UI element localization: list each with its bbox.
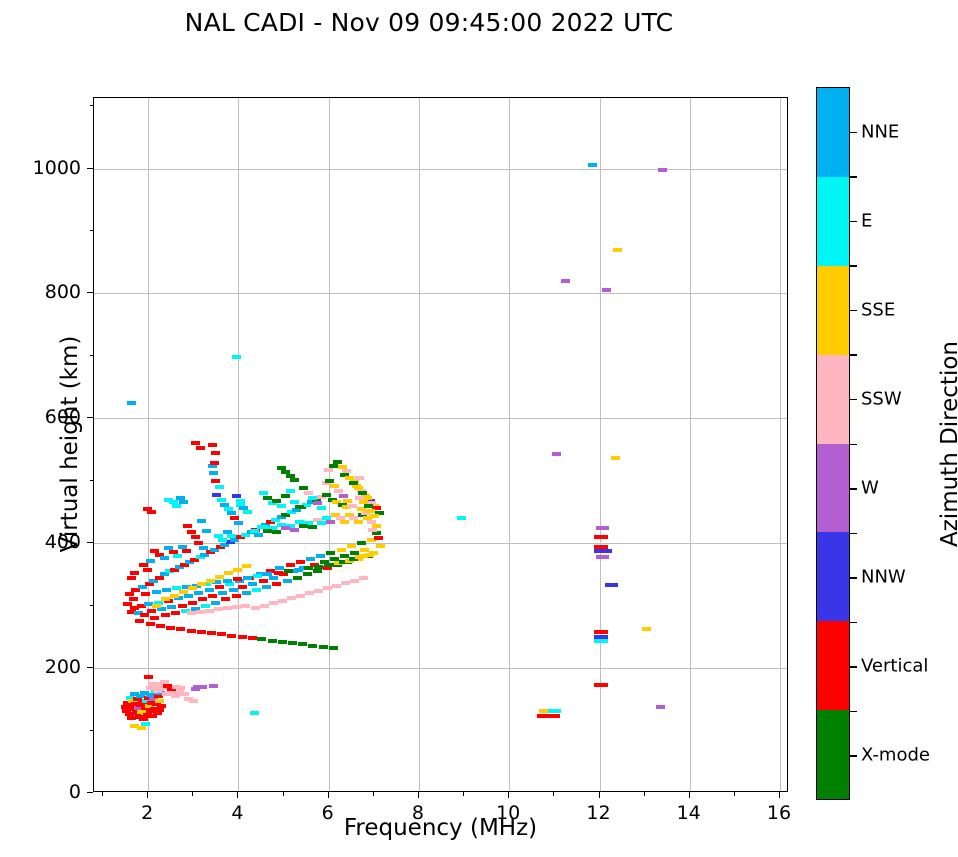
data-point (599, 639, 608, 643)
x-axis-tick (328, 792, 329, 798)
data-point (170, 594, 179, 598)
data-point (205, 588, 214, 592)
data-point (208, 594, 217, 598)
colorbar-boundary-tick (850, 176, 857, 178)
colorbar-tick (850, 755, 857, 757)
data-point (238, 585, 247, 589)
data-point (359, 576, 368, 580)
colorbar-boundary-tick (850, 711, 857, 713)
data-point (152, 604, 161, 608)
x-axis-minor-tick (192, 792, 193, 796)
data-point (242, 564, 251, 568)
x-axis-minor-tick (734, 792, 735, 796)
data-point (218, 591, 227, 595)
data-point (253, 574, 262, 578)
colorbar-segment (817, 710, 849, 799)
y-axis-tick-label: 200 (45, 656, 81, 678)
y-axis-minor-tick (90, 355, 94, 356)
data-point (281, 526, 290, 530)
y-axis-tick-label: 0 (69, 781, 81, 803)
colorbar-label-nne: NNE (861, 121, 899, 142)
data-point (299, 486, 308, 490)
data-point (191, 535, 200, 539)
data-point (229, 588, 238, 592)
data-point (224, 507, 233, 511)
data-point (369, 551, 378, 555)
data-point (293, 576, 302, 580)
data-point (316, 554, 325, 558)
data-point (278, 599, 287, 603)
data-point (183, 524, 192, 528)
data-point (147, 609, 156, 613)
data-point (234, 521, 243, 525)
data-point (220, 503, 229, 507)
data-point (215, 485, 224, 489)
data-point (227, 511, 236, 515)
data-point (337, 548, 346, 552)
colorbar-tick (850, 666, 857, 668)
data-point (600, 526, 609, 530)
data-point (176, 627, 185, 631)
data-point (212, 493, 221, 497)
data-point (224, 571, 233, 575)
data-point (215, 585, 224, 589)
data-point (232, 605, 241, 609)
data-point (340, 520, 349, 524)
x-axis-tick (779, 792, 780, 798)
data-point (123, 602, 132, 606)
colorbar-segment (817, 444, 849, 533)
data-point (259, 491, 268, 495)
data-point (160, 680, 169, 684)
x-axis-minor-tick (373, 792, 374, 796)
data-point (330, 484, 339, 488)
data-point (209, 471, 218, 475)
data-point (153, 689, 162, 693)
data-point (223, 579, 232, 583)
data-point (252, 588, 261, 592)
data-point (201, 604, 210, 608)
data-point (350, 551, 359, 555)
data-point (187, 611, 196, 615)
data-point (227, 534, 236, 538)
data-point (233, 577, 242, 581)
data-point (162, 588, 171, 592)
data-point (599, 630, 608, 634)
data-point (148, 682, 157, 686)
data-point (198, 597, 207, 601)
data-point (217, 632, 226, 636)
data-point (322, 493, 331, 497)
data-point (599, 683, 608, 687)
colorbar-segment (817, 621, 849, 710)
colorbar-tick (850, 399, 857, 401)
data-point (347, 544, 356, 548)
data-point (324, 468, 333, 472)
data-point (207, 631, 216, 635)
data-point (308, 525, 317, 529)
data-point (259, 579, 268, 583)
x-axis-title: Frequency (MHz) (93, 815, 788, 841)
data-point (146, 622, 155, 626)
data-point (167, 605, 176, 609)
figure-title: NAL CADI - Nov 09 09:45:00 2022 UTC (0, 8, 858, 37)
data-point (370, 514, 379, 518)
data-point (173, 554, 182, 558)
data-point (210, 461, 219, 465)
data-point (125, 592, 134, 596)
data-point (274, 571, 283, 575)
y-axis-minor-tick (90, 730, 94, 731)
data-point (296, 594, 305, 598)
data-point (176, 686, 185, 690)
data-point (166, 626, 175, 630)
data-point (304, 491, 313, 495)
data-point (243, 576, 252, 580)
data-point (368, 528, 377, 532)
data-point (326, 551, 335, 555)
data-point (561, 279, 570, 283)
data-point (349, 481, 358, 485)
data-point (272, 530, 281, 534)
data-point (357, 541, 366, 545)
data-point (178, 604, 187, 608)
data-point (277, 504, 286, 508)
data-point (206, 579, 215, 583)
data-point (141, 592, 150, 596)
data-point (161, 597, 170, 601)
y-axis-minor-tick (90, 230, 94, 231)
colorbar-segment (817, 177, 849, 266)
data-point (313, 569, 322, 573)
data-point (263, 572, 272, 576)
data-point (284, 569, 293, 573)
data-point (324, 563, 333, 567)
data-point (260, 604, 269, 608)
data-point (308, 496, 317, 500)
data-point (144, 675, 153, 679)
data-point (233, 568, 242, 572)
data-point (325, 479, 334, 483)
data-point (286, 563, 295, 567)
data-point (196, 610, 205, 614)
data-point (238, 635, 247, 639)
data-point (588, 163, 597, 167)
data-point (152, 590, 161, 594)
data-point (376, 544, 385, 548)
x-axis-minor-tick (463, 792, 464, 796)
data-point (161, 613, 170, 617)
data-point (286, 489, 295, 493)
data-point (179, 590, 188, 594)
data-point (218, 538, 227, 542)
data-point (243, 510, 252, 514)
data-point (290, 478, 299, 482)
y-axis-tick (87, 667, 93, 668)
data-point (191, 441, 200, 445)
data-point (135, 619, 144, 623)
data-point (211, 601, 220, 605)
data-point (326, 520, 335, 524)
colorbar-tick (850, 488, 857, 490)
data-point (140, 613, 149, 617)
data-point (613, 248, 622, 252)
data-point (155, 699, 164, 703)
data-point (196, 446, 205, 450)
data-point (232, 594, 241, 598)
colorbar-segment (817, 355, 849, 444)
x-axis-minor-tick (283, 792, 284, 796)
colorbar-tick (850, 310, 857, 312)
data-point (188, 586, 197, 590)
colorbar-label-w: W (861, 478, 879, 499)
data-point (139, 717, 148, 721)
data-point (609, 583, 618, 587)
data-point (345, 476, 354, 480)
data-point (189, 699, 198, 703)
data-point (137, 726, 146, 730)
x-axis-minor-tick (644, 792, 645, 796)
data-point (269, 601, 278, 605)
x-axis-tick (599, 792, 600, 798)
colorbar-title: Azimuth Direction (937, 284, 958, 604)
data-point (551, 714, 560, 718)
data-point (354, 520, 363, 524)
data-point (191, 687, 200, 691)
data-point (150, 616, 159, 620)
data-point (290, 500, 299, 504)
data-point (188, 601, 197, 605)
data-point (642, 627, 651, 631)
data-point (197, 582, 206, 586)
x-axis-tick (147, 792, 148, 798)
data-point (374, 536, 383, 540)
data-point (211, 479, 220, 483)
data-point (332, 584, 341, 588)
data-point (187, 530, 196, 534)
data-point (359, 500, 368, 504)
y-axis-tick-label: 1000 (33, 157, 81, 179)
data-point (232, 355, 241, 359)
plot-area (93, 97, 788, 792)
data-point (341, 581, 350, 585)
data-point (330, 557, 339, 561)
ionogram-figure: NAL CADI - Nov 09 09:45:00 2022 UTC 2468… (0, 0, 958, 857)
y-axis-minor-tick (90, 605, 94, 606)
data-point (366, 509, 375, 513)
y-axis-tick (87, 542, 93, 543)
colorbar-tick (850, 577, 857, 579)
data-point (157, 704, 166, 708)
x-axis-tick (237, 792, 238, 798)
data-point (262, 585, 271, 589)
data-point (354, 486, 363, 490)
data-point (552, 452, 561, 456)
data-point (194, 541, 203, 545)
colorbar-label-vertical: Vertical (861, 656, 928, 677)
data-point (230, 516, 239, 520)
data-point (656, 705, 665, 709)
data-point (141, 722, 150, 726)
colorbar (816, 87, 850, 800)
colorbar-segment (817, 532, 849, 621)
y-axis-tick (87, 168, 93, 169)
data-point (211, 451, 220, 455)
data-point (223, 606, 232, 610)
data-point (227, 634, 236, 638)
colorbar-boundary-tick (850, 444, 857, 446)
data-point (171, 611, 180, 615)
data-point (319, 645, 328, 649)
data-point (355, 496, 364, 500)
colorbar-boundary-tick (850, 533, 857, 535)
colorbar-segment (817, 88, 849, 177)
data-point (197, 519, 206, 523)
y-axis-minor-tick (90, 105, 94, 106)
data-point (599, 535, 608, 539)
colorbar-boundary-tick (850, 265, 857, 267)
data-point (306, 557, 315, 561)
data-point (139, 563, 148, 567)
data-point (197, 630, 206, 634)
data-point (242, 591, 251, 595)
data-point (251, 606, 260, 610)
data-point (298, 642, 307, 646)
data-point (313, 501, 322, 505)
x-axis-tick (689, 792, 690, 798)
x-axis-minor-tick (553, 792, 554, 796)
data-point (250, 711, 259, 715)
data-point (263, 529, 272, 533)
data-point (317, 521, 326, 525)
colorbar-boundary-tick (850, 354, 857, 356)
data-point (172, 504, 181, 508)
data-point (295, 505, 304, 509)
data-point (334, 489, 343, 493)
data-point (214, 607, 223, 611)
data-point (358, 491, 367, 495)
data-point (221, 597, 230, 601)
data-point (194, 591, 203, 595)
data-point (272, 499, 281, 503)
data-point (602, 288, 611, 292)
data-point (600, 555, 609, 559)
data-point (127, 576, 136, 580)
data-point (317, 506, 326, 510)
data-point (343, 499, 352, 503)
data-point (372, 531, 381, 535)
data-point (202, 529, 211, 533)
y-axis-tick (87, 417, 93, 418)
data-point (156, 624, 165, 628)
data-point (281, 494, 290, 498)
colorbar-tick (850, 132, 857, 134)
y-axis-title: Virtual height (km) (57, 294, 83, 594)
data-point (232, 494, 241, 498)
data-point (323, 586, 332, 590)
data-point (171, 694, 180, 698)
data-point (143, 568, 152, 572)
data-point (360, 548, 369, 552)
colorbar-label-sse: SSE (861, 299, 895, 320)
data-point (304, 566, 313, 570)
data-point (208, 443, 217, 447)
data-point (457, 516, 466, 520)
data-point (127, 401, 136, 405)
data-point (314, 589, 323, 593)
data-point (147, 510, 156, 514)
data-point (303, 572, 312, 576)
colorbar-label-e: E (861, 210, 872, 231)
data-point (217, 498, 226, 502)
data-point (129, 597, 138, 601)
data-point (348, 504, 357, 508)
data-point (215, 575, 224, 579)
y-axis-tick (87, 792, 93, 793)
data-point (209, 684, 218, 688)
data-point (355, 476, 364, 480)
data-point (182, 549, 191, 553)
colorbar-segment (817, 266, 849, 355)
data-point (248, 582, 257, 586)
data-point (272, 582, 281, 586)
data-point (254, 533, 263, 537)
data-point (248, 636, 257, 640)
data-point (552, 709, 561, 713)
data-point (299, 524, 308, 528)
y-axis-minor-tick (90, 480, 94, 481)
data-point (339, 494, 348, 498)
data-point (658, 168, 667, 172)
data-point (263, 496, 272, 500)
colorbar-label-nnw: NNW (861, 567, 906, 588)
x-axis-tick (508, 792, 509, 798)
data-point (184, 594, 193, 598)
data-point (268, 639, 277, 643)
data-point (146, 559, 155, 563)
data-point (257, 637, 266, 641)
data-point (308, 644, 317, 648)
x-axis-minor-tick (102, 792, 103, 796)
data-point (288, 641, 297, 645)
y-axis-tick (87, 292, 93, 293)
data-point (278, 640, 287, 644)
colorbar-boundary-tick (850, 622, 857, 624)
data-point (294, 568, 303, 572)
data-point (340, 554, 349, 558)
data-point (290, 528, 299, 532)
data-point (130, 571, 139, 575)
colorbar-label-x-mode: X-mode (861, 745, 930, 766)
data-layer (94, 98, 787, 791)
data-point (342, 469, 351, 473)
data-point (283, 579, 292, 583)
data-point (199, 546, 208, 550)
colorbar-tick (850, 221, 857, 223)
data-point (611, 456, 620, 460)
x-axis-tick (418, 792, 419, 798)
data-point (314, 565, 323, 569)
data-point (155, 708, 164, 712)
data-point (205, 609, 214, 613)
data-point (350, 579, 359, 583)
data-point (241, 604, 250, 608)
colorbar-label-ssw: SSW (861, 388, 902, 409)
data-point (305, 591, 314, 595)
data-point (603, 549, 612, 553)
data-point (187, 629, 196, 633)
data-point (329, 646, 338, 650)
